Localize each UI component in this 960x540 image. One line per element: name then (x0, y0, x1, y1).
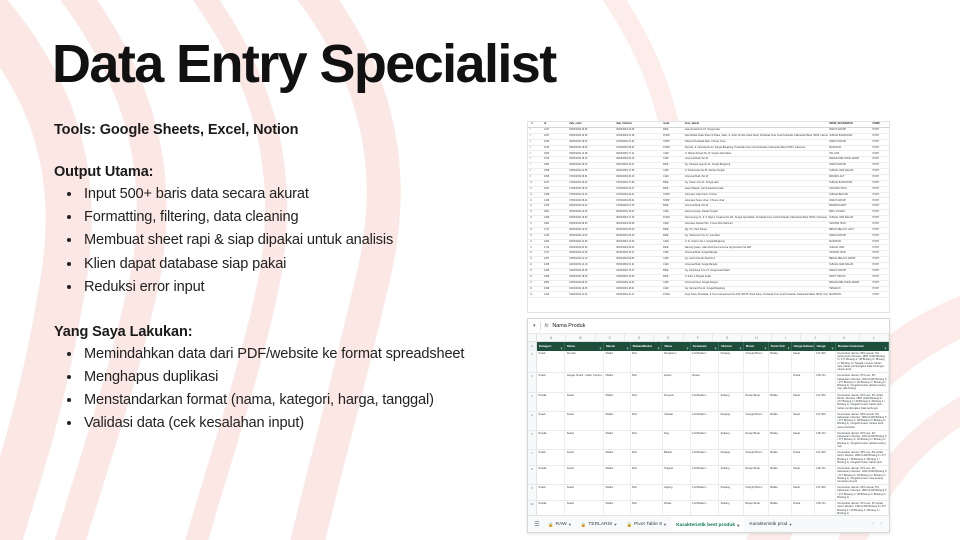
sheet-cell[interactable]: Kecocokan ukuran: 97% ses, 3% kebesaran … (836, 466, 889, 484)
select-all-corner[interactable] (528, 334, 537, 341)
sheet-cell[interactable]: Resep Berat (744, 431, 769, 449)
filter-icon[interactable] (787, 345, 790, 348)
sheet-cell[interactable]: Mixt (631, 393, 663, 411)
sheet-cell[interactable]: Kecocokan ukuran: 87% ses, 5% kebesaran … (836, 373, 889, 391)
sheet-row: 4NoodleSnackMokkoMixtKerupukFull MediumS… (528, 393, 889, 412)
sheet-cell[interactable]: Mixt (631, 501, 663, 516)
sheet-cell[interactable]: Kecocokan ukuran: 97% ses, 3% kebesaran … (836, 431, 889, 449)
table-cell: 03/03/2019 14.17 (615, 292, 662, 298)
formula-bar-value[interactable]: Nama Produk (552, 323, 585, 329)
sheet-column-header-label: Menu (567, 342, 575, 351)
sheet-cell[interactable]: Mokko (604, 373, 631, 391)
list-item: Formatting, filtering, data cleaning (58, 206, 474, 228)
table-cell: 1216 (542, 292, 567, 298)
sheet-cell[interactable]: Oranght Boom (744, 485, 769, 500)
sheet-column-header-label: Kemasan (693, 342, 707, 351)
sheet-cell[interactable]: Jangan Snack - wafer, Kerupu, creme, Sna… (565, 373, 604, 391)
sheet-cell[interactable]: Snack (537, 373, 565, 391)
chevron-down-icon[interactable]: ▾ (614, 516, 616, 533)
tools-line: Tools: Google Sheets, Excel, Notion (54, 122, 474, 138)
sheet-cell[interactable]: Snack (537, 351, 565, 372)
tab-prev-button[interactable]: ‹ (873, 521, 875, 527)
lock-icon: 🔒 (581, 516, 586, 533)
sheet-cell[interactable]: 148.744 (815, 501, 836, 516)
sheet-column-header[interactable]: Harga (815, 342, 836, 351)
chevron-down-icon[interactable]: ▾ (664, 516, 666, 533)
divider (540, 322, 541, 330)
sheet-cell[interactable]: Mokko (604, 351, 631, 372)
output-heading: Output Utama: (54, 164, 474, 180)
sheet-cell[interactable]: 147.000 (815, 351, 836, 372)
sheet-cell[interactable]: Mokko (604, 431, 631, 449)
sheet-row: 6NoodleSnackMokkoMixtKejuFull MediumSeda… (528, 431, 889, 450)
row-number[interactable]: 7 (528, 450, 537, 465)
sheet-cell[interactable]: Sedang (719, 466, 744, 484)
column-letter[interactable]: D (625, 334, 654, 341)
sheet-cell[interactable]: Sanat (792, 393, 815, 411)
sheet-cell[interactable]: Kecocokan ukuran: 97% ses, 3% terlalu Be… (836, 393, 889, 411)
filter-icon[interactable] (739, 345, 742, 348)
sheet-tab[interactable]: 🔒Pivot Table 8▾ (622, 516, 672, 533)
sheet-tab[interactable]: 🔒TERLARIS▾ (576, 516, 622, 533)
tasks-heading: Yang Saya Lakukan: (54, 324, 474, 340)
chevron-down-icon[interactable]: ▾ (789, 516, 791, 533)
content-column: Tools: Google Sheets, Excel, Notion Outp… (54, 122, 474, 436)
sheet-cell[interactable]: Mokko (769, 501, 792, 516)
sheet-cell[interactable]: Full Medium (691, 412, 719, 430)
table-row: 29121603/03/2019 11.3003/03/2019 14.17FO… (528, 292, 889, 298)
tasks-bullet-list: Memindahkan data dari PDF/website ke for… (58, 343, 474, 435)
sheet-cell[interactable]: 147.000 (815, 393, 836, 411)
sheet-column-header-label: Total Unit (771, 342, 785, 351)
sheet-cell[interactable]: Mokko (769, 412, 792, 430)
sheet-cell[interactable] (719, 373, 744, 391)
sheet-cell[interactable]: All color (565, 351, 604, 372)
screenshot-google-sheets: ▾ fx Nama Produk ABCDEFGHIJKL 1 Kategori… (527, 318, 890, 533)
sheet-row: 9SnackSnackMokkoMixtJagungFull MediumPan… (528, 485, 889, 501)
sheet-cell[interactable]: Mokko (769, 466, 792, 484)
sheet-cell[interactable]: Mokko (604, 501, 631, 516)
sheet-cell[interactable]: Oranght Boom (744, 412, 769, 430)
table-cell: PONT (871, 292, 889, 298)
sheet-cell[interactable]: Kerupuk (663, 393, 691, 411)
table-body: 1141709/03/2019 20.4509/03/2019 22.05BIK… (528, 127, 889, 297)
sheet-cell[interactable]: Sanat (792, 412, 815, 430)
sheet-cell[interactable]: 147.000 (815, 485, 836, 500)
sheet-cell[interactable]: Sanat (792, 351, 815, 372)
sheet-cell[interactable]: Snack (537, 450, 565, 465)
list-item: Membuat sheet rapi & siap dipakai untuk … (58, 229, 474, 251)
column-letter[interactable]: K (830, 334, 859, 341)
sheet-cell[interactable]: Mixt (631, 450, 663, 465)
sheet-tab-bar: ☰ 🔒RAW▾🔒TERLARIS▾🔒Pivot Table 8▾Karakter… (528, 515, 889, 532)
sheet-cell[interactable]: Noodle (537, 501, 565, 516)
sheet-column-header[interactable]: Merek (604, 342, 631, 351)
sheet-column-header[interactable]: Review Customer (836, 342, 889, 351)
sheet-cell[interactable]: Sanat (792, 485, 815, 500)
sheet-column-header-label: Harga (817, 342, 826, 351)
sheet-header-row: 1 KategoriMenuMerekBahan/ModelRasaKemasa… (528, 342, 889, 351)
table-cell: FOOD (662, 292, 684, 298)
sheet-row: 8NoodleSnackMokkoMixtOriginalFull Medium… (528, 466, 889, 485)
column-letter[interactable]: H (742, 334, 771, 341)
sheet-cell[interactable]: Keju (663, 431, 691, 449)
filter-icon[interactable] (764, 345, 767, 348)
list-item: Menstandarkan format (nama, kategori, ha… (58, 389, 474, 411)
sheet-cell[interactable]: Snack (537, 412, 565, 430)
sheet-column-header[interactable]: Bahan/Model (631, 342, 663, 351)
sheet-body: 2SnackAll colorMokkoMixtStrawberryFull M… (528, 351, 889, 533)
sheet-cell[interactable]: Full Medium (691, 351, 719, 372)
page-title: Data Entry Specialist (52, 36, 556, 93)
table-cell: MASOSOO (828, 292, 871, 298)
output-bullet-list: Input 500+ baris data secara akurat Form… (58, 183, 474, 298)
row-number[interactable]: 3 (528, 373, 537, 391)
column-letter[interactable]: B (566, 334, 595, 341)
sheet-cell[interactable]: Kecocokan ukuran: 95% sesuai, 5% kebesar… (836, 412, 889, 430)
sheet-cell[interactable]: Snack (565, 466, 604, 484)
sheet-cell[interactable]: Sedang (719, 431, 744, 449)
sheet-tab[interactable]: Karakteristik best produk▾ (671, 516, 744, 533)
sheet-column-header-label: Bahan/Model (633, 342, 652, 351)
sheet-tab-label: Pivot Table 8 (634, 516, 662, 533)
column-letter[interactable]: C (596, 334, 625, 341)
sheet-column-header[interactable]: Ukuran (719, 342, 744, 351)
sheet-column-header[interactable]: Rasa (662, 342, 690, 351)
chevron-down-icon[interactable]: ▾ (533, 323, 536, 329)
sheet-cell[interactable]: Oreka (792, 501, 815, 516)
filter-icon[interactable] (657, 345, 660, 348)
sheet-cell[interactable]: Strawberry (663, 351, 691, 372)
sheet-cell[interactable]: Mokko (769, 351, 792, 372)
sheet-cell[interactable]: Kecocokan ukuran: 95% sesuai, 5% terlalu… (836, 351, 889, 372)
sheet-cell[interactable]: Resep Berat (744, 501, 769, 516)
sheet-cell[interactable]: Sanat (792, 466, 815, 484)
sheet-tab[interactable]: 🔒RAW▾ (543, 516, 576, 533)
lock-icon: 🔒 (548, 516, 553, 533)
hamburger-icon[interactable]: ☰ (531, 521, 543, 528)
tab-nav-arrows: ‹ › (873, 521, 886, 527)
sheet-column-header-label: Berat (746, 342, 754, 351)
formula-bar[interactable]: ▾ fx Nama Produk (528, 319, 889, 334)
row-number[interactable]: 10 (528, 501, 537, 516)
sheet-cell[interactable]: 147.000 (815, 412, 836, 430)
sheet-cell[interactable]: 148.744 (815, 431, 836, 449)
sheet-cell[interactable]: Mokko (604, 412, 631, 430)
sheet-cell[interactable]: Full Medium (691, 450, 719, 465)
sheet-cell[interactable]: Mokko (769, 431, 792, 449)
row-number[interactable]: 4 (528, 393, 537, 411)
table-cell: 29 (528, 292, 542, 298)
column-letter[interactable]: F (684, 334, 713, 341)
sheet-cell[interactable]: Oranght Boom (744, 351, 769, 372)
filter-icon[interactable] (714, 345, 717, 348)
sheet-cell[interactable]: Mokko (604, 466, 631, 484)
sheet-tab[interactable]: Karakteristik prod▾ (744, 516, 796, 533)
sheet-cell[interactable]: Oranght Boom (744, 450, 769, 465)
sheet-cell[interactable]: Kecocokan ukuran: 95% ses, 5% terlalu ke… (836, 450, 889, 465)
function-icon: fx (545, 323, 549, 329)
sheet-cell[interactable]: Panjang (719, 412, 744, 430)
column-letter[interactable]: L (860, 334, 889, 341)
sheet-row: 3SnackJangan Snack - wafer, Kerupu, crem… (528, 373, 889, 392)
sheet-tab-label: RAW (555, 516, 566, 533)
list-item: Klien dapat database siap pakai (58, 253, 474, 275)
spacer (54, 299, 474, 324)
sheet-cell[interactable]: Panjang (719, 450, 744, 465)
list-item: Input 500+ baris data secara akurat (58, 183, 474, 205)
sheet-cell[interactable]: Snack (565, 450, 604, 465)
column-letter[interactable]: G (713, 334, 742, 341)
sheet-cell[interactable]: Mokko (769, 450, 792, 465)
sheet-cell[interactable]: Jagung (663, 485, 691, 500)
screenshot-data-table: _id id date_order date_finished mode fro… (527, 121, 890, 313)
column-letter[interactable]: I (772, 334, 801, 341)
row-number[interactable]: 8 (528, 466, 537, 484)
sheet-cell[interactable]: Mokko (769, 393, 792, 411)
sheet-cell[interactable]: Mixt (631, 431, 663, 449)
column-letter[interactable]: J (801, 334, 830, 341)
sheet-cell[interactable]: Resep Berat (744, 466, 769, 484)
row-number[interactable]: 9 (528, 485, 537, 500)
sheet-cell[interactable]: Snack (537, 485, 565, 500)
sheet-cell[interactable]: Full Medium (691, 393, 719, 411)
filter-icon[interactable] (884, 345, 887, 348)
list-item: Menghapus duplikasi (58, 366, 474, 388)
sheet-cell[interactable]: Mokko (604, 393, 631, 411)
sheet-cell[interactable]: Mixt (631, 412, 663, 430)
sheet-cell[interactable]: 148.744 (815, 466, 836, 484)
column-letter-header: ABCDEFGHIJKL (528, 334, 889, 342)
sheet-cell[interactable]: Original (663, 466, 691, 484)
sheet-cell[interactable]: Snack (565, 501, 604, 516)
sheet-cell[interactable]: Sedang (719, 393, 744, 411)
sheet-cell[interactable]: Noodle (537, 431, 565, 449)
sheet-cell[interactable]: Noodle (537, 393, 565, 411)
sheet-column-header-label: Merek (606, 342, 615, 351)
sheet-row: 5SnackSnackMokkoMixtCokelatFull MediumPa… (528, 412, 889, 431)
data-table: _id id date_order date_finished mode fro… (528, 122, 889, 298)
sheet-cell[interactable]: Sanat (792, 431, 815, 449)
sheet-cell[interactable]: Noodle (537, 466, 565, 484)
sheet-cell[interactable]: Kecocokan ukuran: 97% ses, 3% terlalu ke… (836, 501, 889, 516)
sheet-cell[interactable]: Snack (565, 431, 604, 449)
sheet-cell[interactable]: Full Medium (691, 501, 719, 516)
filter-icon[interactable] (686, 345, 689, 348)
sheet-cell[interactable] (769, 373, 792, 391)
sheet-cell[interactable]: Panjang (719, 485, 744, 500)
sheet-row: 2SnackAll colorMokkoMixtStrawberryFull M… (528, 351, 889, 373)
sheet-cell[interactable]: Pedas (663, 501, 691, 516)
row-number[interactable]: 6 (528, 431, 537, 449)
chevron-down-icon[interactable]: ▾ (737, 517, 739, 534)
row-number[interactable]: 5 (528, 412, 537, 430)
sheet-cell[interactable]: Snack (565, 393, 604, 411)
sheet-cell[interactable]: Snack (565, 485, 604, 500)
sheet-cell[interactable]: Sedang (719, 501, 744, 516)
filter-icon[interactable] (626, 345, 629, 348)
filter-icon[interactable] (831, 345, 834, 348)
sheet-cell[interactable]: Balado (663, 450, 691, 465)
sheet-cell[interactable]: Mixt (631, 351, 663, 372)
sheet-column-header[interactable]: Harga Satuan (792, 342, 815, 351)
sheet-cell[interactable]: Full Medium (691, 431, 719, 449)
sheet-column-header[interactable]: Menu (565, 342, 604, 351)
sheet-cell[interactable]: Apeku (663, 373, 691, 391)
sheet-cell[interactable]: Kecocokan ukuran: 95% sesuai, 5% kebesar… (836, 485, 889, 500)
sheet-tab-label: Karakteristik best produk (676, 517, 735, 534)
sheet-cell[interactable]: Mokko (604, 485, 631, 500)
sheet-cell[interactable]: Cokelat (663, 412, 691, 430)
sheet-column-header-label: Ukuran (721, 342, 732, 351)
filter-icon[interactable] (599, 345, 602, 348)
list-item: Validasi data (cek kesalahan input) (58, 412, 474, 434)
sheet-cell[interactable]: Mixt (631, 373, 663, 391)
sheet-tab-label: Karakteristik prod (749, 516, 787, 533)
sheet-column-header-label: Rasa (664, 342, 671, 351)
sheet-cell[interactable]: Mixt (631, 485, 663, 500)
chevron-down-icon[interactable]: ▾ (569, 516, 571, 533)
sheet-cell[interactable]: Resep (691, 373, 719, 391)
column-letter[interactable]: E (654, 334, 683, 341)
list-item: Memindahkan data dari PDF/website ke for… (58, 343, 474, 365)
sheet-cell[interactable]: Resep Berat (744, 393, 769, 411)
list-item: Reduksi error input (58, 276, 474, 298)
slide-root: Data Entry Specialist Tools: Google Shee… (0, 0, 960, 540)
table-cell: 03/03/2019 11.30 (568, 292, 615, 298)
sheet-cell[interactable]: Snack (565, 412, 604, 430)
sheet-column-header-label: Review Customer (838, 342, 864, 351)
row-number: 1 (528, 342, 537, 351)
lock-icon: 🔒 (627, 516, 632, 533)
row-number[interactable]: 2 (528, 351, 537, 372)
sheet-row: 7SnackSnackMokkoMixtBaladoFull MediumPan… (528, 450, 889, 466)
column-letter[interactable]: A (537, 334, 566, 341)
sheet-column-header-label: Kategori (539, 342, 552, 351)
sheet-tab-label: TERLARIS (588, 516, 612, 533)
sheet-column-header[interactable]: Kategori (537, 342, 565, 351)
filter-icon[interactable] (560, 345, 563, 348)
table-cell: Soya Suvia, Pondokka, Jl. Hos Cokroamino… (683, 292, 827, 298)
sheet-cell[interactable]: 148.744 (815, 373, 836, 391)
sheet-column-header-label: Harga Satuan (794, 342, 814, 351)
sheet-cell[interactable]: Oreka (792, 373, 815, 391)
sheet-cell[interactable]: Mixt (631, 466, 663, 484)
sheet-cell[interactable]: Full Medium (691, 466, 719, 484)
sheet-cell[interactable]: 147.000 (815, 450, 836, 465)
sheet-cell[interactable]: Mokko (769, 485, 792, 500)
tab-next-button[interactable]: › (880, 521, 882, 527)
sheet-column-header[interactable]: Kemasan (691, 342, 719, 351)
sheet-cell[interactable]: Panjang (719, 351, 744, 372)
sheet-cell[interactable]: Oreka (792, 450, 815, 465)
sheet-cell[interactable]: Mokko (604, 450, 631, 465)
sheet-cell[interactable] (744, 373, 769, 391)
sheet-column-header[interactable]: Berat (744, 342, 769, 351)
sheet-column-header[interactable]: Total Unit (769, 342, 792, 351)
sheet-cell[interactable]: Full Medium (691, 485, 719, 500)
